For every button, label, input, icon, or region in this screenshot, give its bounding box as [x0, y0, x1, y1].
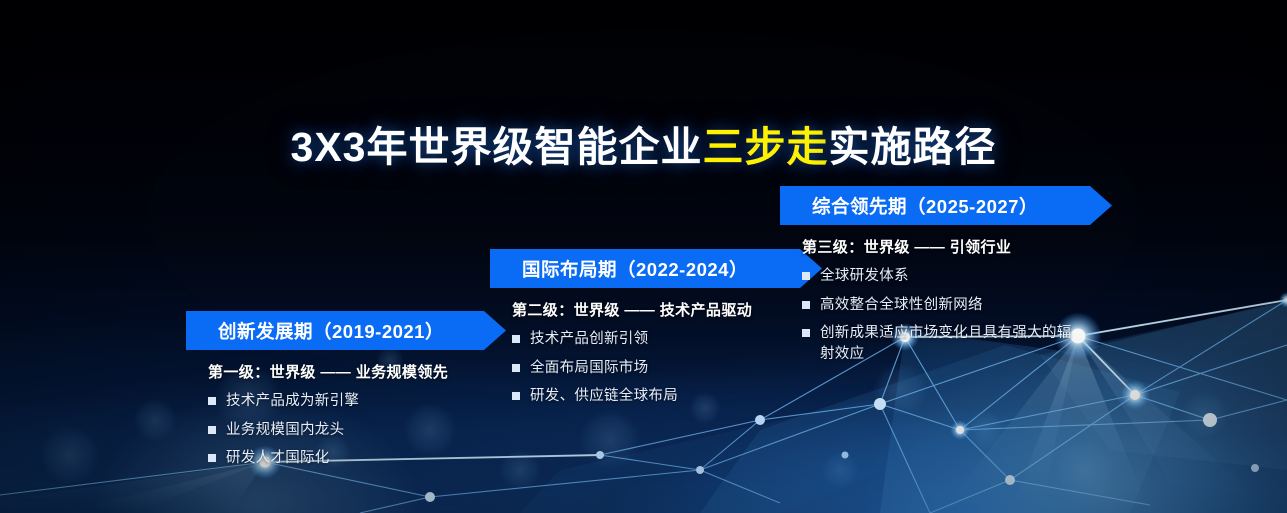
step-1-banner-label: 创新发展期（2019-2021） — [218, 318, 444, 344]
step-3-bullet-list: 全球研发体系 高效整合全球性创新网络 创新成果适应市场变化且具有强大的辐射效应 — [780, 266, 1080, 364]
slide-canvas: 3X3年世界级智能企业三步走实施路径 创新发展期（2019-2021） 第一级：… — [0, 0, 1287, 513]
list-item: 研发、供应链全球布局 — [512, 386, 790, 407]
list-item: 技术产品创新引领 — [512, 329, 790, 350]
page-title: 3X3年世界级智能企业三步走实施路径 — [0, 113, 1287, 173]
title-prefix: 3X3年世界级智能企业 — [291, 124, 703, 170]
step-2-banner-label: 国际布局期（2022-2024） — [522, 256, 748, 282]
step-3-banner[interactable]: 综合领先期（2025-2027） — [780, 186, 1112, 225]
list-item: 全面布局国际市场 — [512, 358, 790, 379]
title-suffix: 实施路径 — [828, 124, 996, 170]
list-item: 研发人才国际化 — [208, 448, 486, 469]
list-item: 业务规模国内龙头 — [208, 420, 486, 441]
list-item: 技术产品成为新引擎 — [208, 391, 486, 412]
step-1-subtitle: 第一级：世界级 —— 业务规模领先 — [186, 361, 486, 382]
list-item: 高效整合全球性创新网络 — [802, 295, 1072, 316]
title-highlight: 三步走 — [702, 124, 828, 170]
list-item: 全球研发体系 — [802, 266, 1072, 287]
step-block-2: 国际布局期（2022-2024） 第二级：世界级 —— 技术产品驱动 技术产品创… — [490, 249, 790, 415]
step-2-banner[interactable]: 国际布局期（2022-2024） — [490, 249, 822, 288]
step-1-bullet-list: 技术产品成为新引擎 业务规模国内龙头 研发人才国际化 — [186, 391, 486, 469]
step-block-3: 综合领先期（2025-2027） 第三级：世界级 —— 引领行业 全球研发体系 … — [780, 186, 1080, 372]
step-block-1: 创新发展期（2019-2021） 第一级：世界级 —— 业务规模领先 技术产品成… — [186, 311, 486, 477]
step-2-bullet-list: 技术产品创新引领 全面布局国际市场 研发、供应链全球布局 — [490, 329, 790, 407]
step-1-banner[interactable]: 创新发展期（2019-2021） — [186, 311, 506, 350]
step-3-subtitle: 第三级：世界级 —— 引领行业 — [780, 236, 1080, 257]
list-item: 创新成果适应市场变化且具有强大的辐射效应 — [802, 323, 1072, 364]
step-2-subtitle: 第二级：世界级 —— 技术产品驱动 — [490, 299, 790, 320]
step-3-banner-label: 综合领先期（2025-2027） — [812, 193, 1038, 219]
